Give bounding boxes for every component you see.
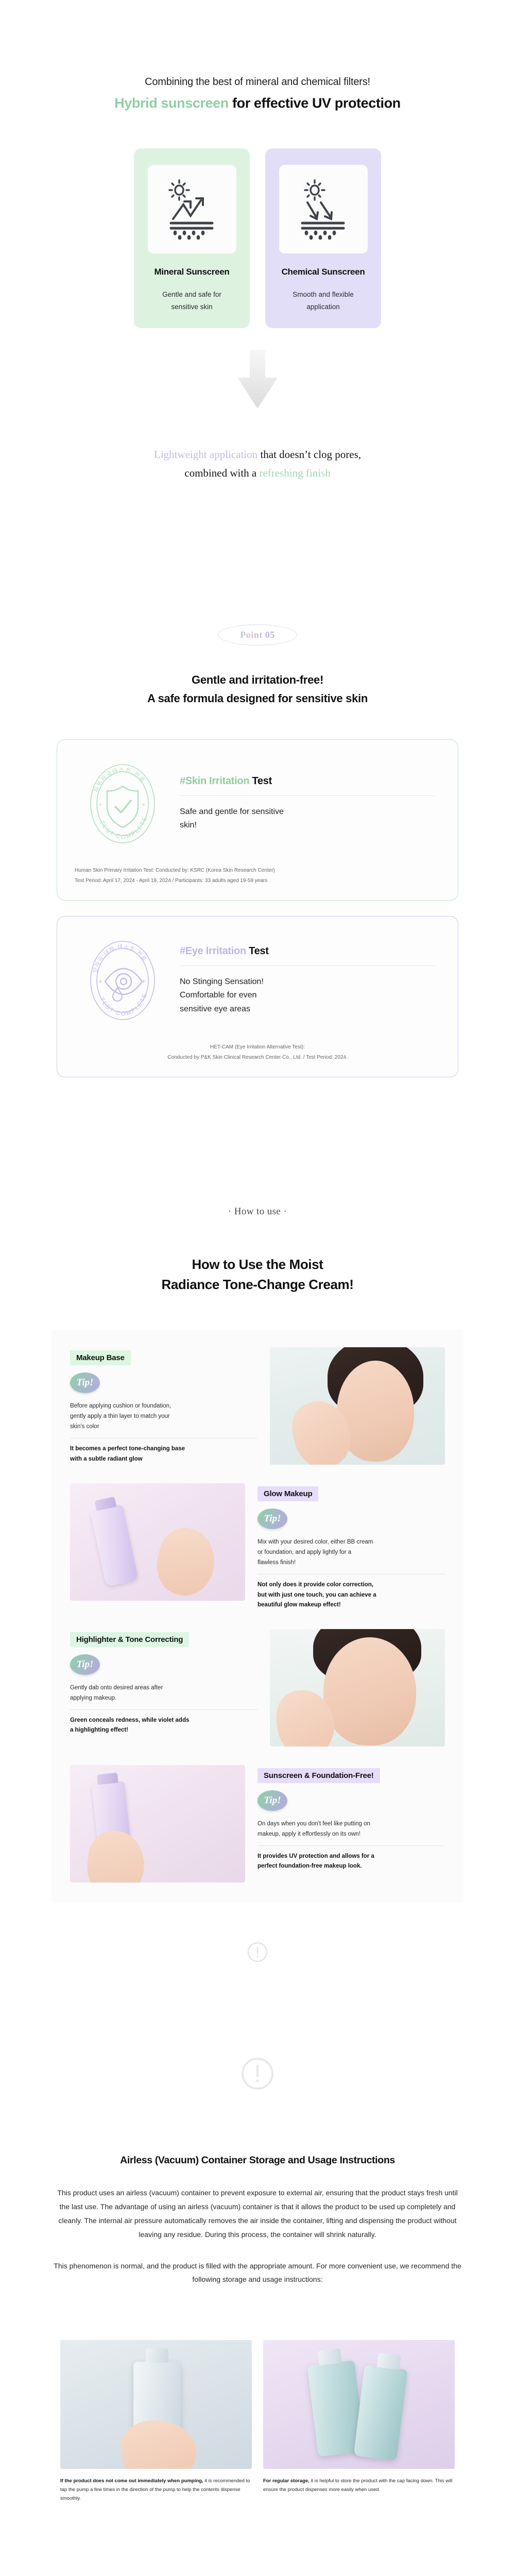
skin-test-body: + + 피부자극테스트 완료 TEST COMPLETE #Skin Irrit… [57, 740, 458, 853]
step-4-text-line1: On days when you don't feel like putting… [257, 1819, 445, 1829]
tube-cap [97, 1773, 118, 1785]
pump-shape [377, 2353, 401, 2370]
step-1-text-line3: skin's color [70, 1422, 257, 1432]
svg-text:TEST COMPLETE: TEST COMPLETE [98, 992, 149, 1018]
pump-shape [146, 2348, 168, 2363]
skin-test-footnote-line1: Human Skin Primary Irritation Test: Cond… [75, 866, 448, 876]
step-highlighter-tone-correcting: Highlighter & Tone Correcting Tip! Gentl… [70, 1629, 445, 1747]
product-detail-page: Combining the best of mineral and chemic… [0, 0, 515, 2534]
hero-title: Hybrid sunscreen for effective UV protec… [0, 95, 515, 111]
airless-photo-col-2: For regular storage, it is helpful to st… [263, 2340, 455, 2503]
skin-test-footnote-line2: Test Period: April 17, 2024 - April 19, … [75, 876, 448, 886]
svg-text:+: + [98, 801, 102, 808]
svg-text:+: + [142, 977, 146, 985]
airless-paragraph-1: This product uses an airless (vacuum) co… [51, 2186, 463, 2242]
step-3-label: Highlighter & Tone Correcting [70, 1632, 189, 1647]
howto-title-line1: How to Use the Moist [0, 1255, 515, 1275]
step-2-divider [257, 1574, 445, 1574]
sun-reflect-skin-icon [164, 179, 220, 240]
airless-photo-2-caption-bold: For regular storage, [263, 2478, 310, 2484]
comparison-cards: Mineral Sunscreen Gentle and safe for se… [0, 148, 515, 328]
step-3-copy: Highlighter & Tone Correcting Tip! Gentl… [70, 1629, 257, 1747]
tagline-section: Lightweight application that doesn’t clo… [0, 445, 515, 482]
eye-irritation-test-card: + + 안자극 대체 테스트 완료 TEST COMPLETE #Eye Irr… [57, 916, 458, 1077]
step-4-bold-line2: perfect foundation-free makeup look. [257, 1861, 445, 1872]
tagline-part2: that doesn’t clog pores, [257, 448, 361, 461]
step-4-label: Sunscreen & Foundation-Free! [257, 1768, 380, 1783]
step-sunscreen-foundation-free: Sunscreen & Foundation-Free! Tip! On day… [70, 1765, 445, 1883]
step-makeup-base: Makeup Base Tip! Before applying cushion… [70, 1347, 445, 1465]
step-1-bold-line1: It becomes a perfect tone-changing base [70, 1444, 257, 1454]
eye-test-divider [180, 965, 435, 966]
svg-text:+: + [98, 977, 102, 985]
eye-test-desc-line1: No Stinging Sensation! [180, 975, 435, 989]
eye-test-stamp: + + 안자극 대체 테스트 완료 TEST COMPLETE [75, 936, 170, 1025]
exclamation-circle-icon [247, 1941, 268, 1963]
skin-test-title: #Skin Irritation Test [180, 775, 435, 787]
pump-troubleshoot-photo [60, 2340, 252, 2469]
step-2-bold: Not only does it provide color correctio… [257, 1580, 445, 1611]
bottle-shape [353, 2365, 407, 2461]
hero-section: Combining the best of mineral and chemic… [0, 0, 515, 111]
skin-test-footnote: Human Skin Primary Irritation Test: Cond… [57, 853, 458, 900]
step-glow-makeup: Glow Makeup Tip! Mix with your desired c… [70, 1483, 445, 1611]
step-4-text: On days when you don't feel like putting… [257, 1819, 445, 1840]
sun-absorb-skin-icon [295, 179, 352, 240]
tagline-row2: combined with a refreshing finish [0, 464, 515, 482]
step-3-text-line2: applying makeup. [70, 1693, 257, 1704]
svg-text:+: + [142, 801, 146, 808]
eye-test-title-rest: Test [246, 945, 269, 957]
eye-test-desc-line3: sensitive eye areas [180, 1003, 435, 1016]
step-4-text-line2: makeup, apply it effortlessly on its own… [257, 1829, 445, 1840]
skin-irritation-test-card: + + 피부자극테스트 완료 TEST COMPLETE #Skin Irrit… [57, 739, 458, 901]
skin-test-desc: Safe and gentle for sensitive skin! [180, 805, 435, 833]
mineral-desc-line1: Gentle and safe for [143, 289, 241, 301]
step-2-bold-line2: but with just one touch, you can achieve… [257, 1590, 445, 1601]
arrow-section [0, 350, 515, 414]
tagline-part3: combined with a [184, 467, 259, 479]
point-section: Point 05 Gentle and irritation-free! A s… [0, 624, 515, 705]
airless-paragraph-2: This phenomenon is normal, and the produ… [51, 2259, 463, 2287]
chemical-card-desc: Smooth and flexible application [274, 289, 372, 313]
eye-drop-stamp-icon: + + 안자극 대체 테스트 완료 TEST COMPLETE [81, 936, 164, 1025]
step-1-bold: It becomes a perfect tone-changing base … [70, 1444, 257, 1465]
step-3-bold: Green conceals redness, while violet add… [70, 1716, 257, 1736]
step-2-text-line3: flawless finish! [257, 1558, 445, 1568]
shield-check-stamp-icon: + + 피부자극테스트 완료 TEST COMPLETE [81, 759, 164, 848]
step-3-photo [270, 1629, 445, 1747]
tip-badge-icon: Tip! [257, 1790, 287, 1811]
exclamation-circle-icon [240, 2056, 275, 2091]
point-heading-1: Gentle and irritation-free! [0, 673, 515, 687]
howto-title-line2: Radiance Tone-Change Cream! [0, 1275, 515, 1295]
airless-photos: If the product does not come out immedia… [0, 2340, 515, 2503]
step-4-photo [70, 1765, 245, 1883]
tip-badge-icon: Tip! [257, 1509, 287, 1529]
step-3-bold-line2: a highlighting effect! [70, 1725, 257, 1736]
mineral-card-title: Mineral Sunscreen [143, 267, 241, 277]
step-3-divider [70, 1709, 257, 1710]
hero-title-rest: for effective UV protection [229, 95, 401, 111]
step-3-text-line1: Gently dab onto desired areas after [70, 1683, 257, 1693]
eye-test-title: #Eye Irritation Test [180, 945, 435, 957]
step-1-text: Before applying cushion or foundation, g… [70, 1401, 257, 1432]
skin-test-tag: #Skin Irritation [180, 775, 249, 787]
tagline-part1: Lightweight application [154, 448, 257, 461]
step-2-text: Mix with your desired color, either BB c… [257, 1537, 445, 1568]
chemical-card-title: Chemical Sunscreen [274, 267, 372, 277]
airless-icon-section [0, 2056, 515, 2094]
skin-test-title-rest: Test [249, 775, 272, 787]
mineral-card-desc: Gentle and safe for sensitive skin [143, 289, 241, 313]
tagline-row1: Lightweight application that doesn’t clo… [0, 445, 515, 464]
step-2-bold-line3: beautiful glow makeup effect! [257, 1600, 445, 1611]
point-heading-2: A safe formula designed for sensitive sk… [0, 692, 515, 705]
step-1-photo [270, 1347, 445, 1465]
step-4-bold: It provides UV protection and allows for… [257, 1852, 445, 1872]
skin-test-desc-line1: Safe and gentle for sensitive [180, 805, 435, 819]
mineral-icon-box [148, 165, 236, 253]
step-2-label: Glow Makeup [257, 1486, 318, 1501]
hand-shape [121, 2420, 196, 2469]
howto-kicker: · How to use · [0, 1206, 515, 1217]
storage-advice-photo [263, 2340, 455, 2469]
mineral-sunscreen-card: Mineral Sunscreen Gentle and safe for se… [134, 148, 250, 328]
step-4-divider [257, 1845, 445, 1846]
point-badge: Point 05 [218, 624, 297, 646]
step-4-copy: Sunscreen & Foundation-Free! Tip! On day… [257, 1765, 445, 1883]
airless-photo-1-caption: If the product does not come out immedia… [60, 2477, 252, 2503]
step-3-text: Gently dab onto desired areas after appl… [70, 1683, 257, 1704]
hero-subtitle: Combining the best of mineral and chemic… [0, 76, 515, 88]
face-shape [323, 1637, 416, 1745]
airless-photo-2-caption: For regular storage, it is helpful to st… [263, 2477, 455, 2494]
eye-test-tag: #Eye Irritation [180, 945, 246, 957]
step-2-text-line1: Mix with your desired color, either BB c… [257, 1537, 445, 1548]
airless-photo-1-caption-bold: If the product does not come out immedia… [60, 2478, 203, 2484]
airless-photo-col-1: If the product does not come out immedia… [60, 2340, 252, 2503]
step-2-bold-line1: Not only does it provide color correctio… [257, 1580, 445, 1590]
divider-section [0, 1941, 515, 1965]
step-1-label: Makeup Base [70, 1350, 131, 1365]
step-1-text-line1: Before applying cushion or foundation, [70, 1401, 257, 1412]
step-1-bold-line2: with a subtle radiant glow [70, 1454, 257, 1465]
eye-test-text: #Eye Irritation Test No Stinging Sensati… [170, 945, 440, 1016]
step-1-text-line2: gently apply a thin layer to match your [70, 1412, 257, 1422]
chemical-sunscreen-card: Chemical Sunscreen Smooth and flexible a… [265, 148, 381, 328]
step-2-text-line2: or foundation, and apply lightly for a [257, 1548, 445, 1558]
step-4-bold-line1: It provides UV protection and allows for… [257, 1852, 445, 1862]
chemical-desc-line2: application [274, 301, 372, 313]
hero-highlight: Hybrid sunscreen [114, 95, 229, 111]
eye-test-desc-line2: Comfortable for even [180, 989, 435, 1002]
tip-badge-icon: Tip! [70, 1372, 100, 1393]
skin-test-stamp: + + 피부자극테스트 완료 TEST COMPLETE [75, 759, 170, 848]
svg-text:TEST COMPLETE: TEST COMPLETE [98, 816, 149, 841]
step-2-photo [70, 1483, 245, 1601]
eye-test-desc: No Stinging Sensation! Comfortable for e… [180, 975, 435, 1016]
bottom-spacer [0, 2503, 515, 2534]
skin-test-desc-line2: skin! [180, 819, 435, 832]
skin-test-text: #Skin Irritation Test Safe and gentle fo… [170, 775, 440, 833]
chemical-desc-line1: Smooth and flexible [274, 289, 372, 301]
eye-test-footnote: HET-CAM (Eye Irritation Alternative Test… [57, 1030, 458, 1077]
eye-test-body: + + 안자극 대체 테스트 완료 TEST COMPLETE #Eye Irr… [57, 917, 458, 1030]
howto-steps-panel: Makeup Base Tip! Before applying cushion… [51, 1330, 463, 1903]
down-arrow-icon [233, 350, 282, 412]
skin-test-divider [180, 795, 435, 796]
eye-test-footnote-line1: HET-CAM (Eye Irritation Alternative Test… [67, 1042, 448, 1053]
howto-title: How to Use the Moist Radiance Tone-Chang… [0, 1255, 515, 1295]
tagline-part4: refreshing finish [260, 467, 331, 479]
mineral-desc-line2: sensitive skin [143, 301, 241, 313]
svg-text:피부자극테스트 완료: 피부자극테스트 완료 [93, 767, 146, 793]
step-1-divider [70, 1438, 257, 1438]
eye-test-footnote-line2: Conducted by P&K Skin Clinical Research … [67, 1053, 448, 1063]
step-1-copy: Makeup Base Tip! Before applying cushion… [70, 1347, 257, 1465]
pump-shape [318, 2348, 342, 2365]
chemical-icon-box [279, 165, 368, 253]
step-2-copy: Glow Makeup Tip! Mix with your desired c… [257, 1483, 445, 1611]
airless-title: Airless (Vacuum) Container Storage and U… [0, 2155, 515, 2166]
tip-badge-icon: Tip! [70, 1654, 100, 1675]
step-3-bold-line1: Green conceals redness, while violet add… [70, 1716, 257, 1726]
